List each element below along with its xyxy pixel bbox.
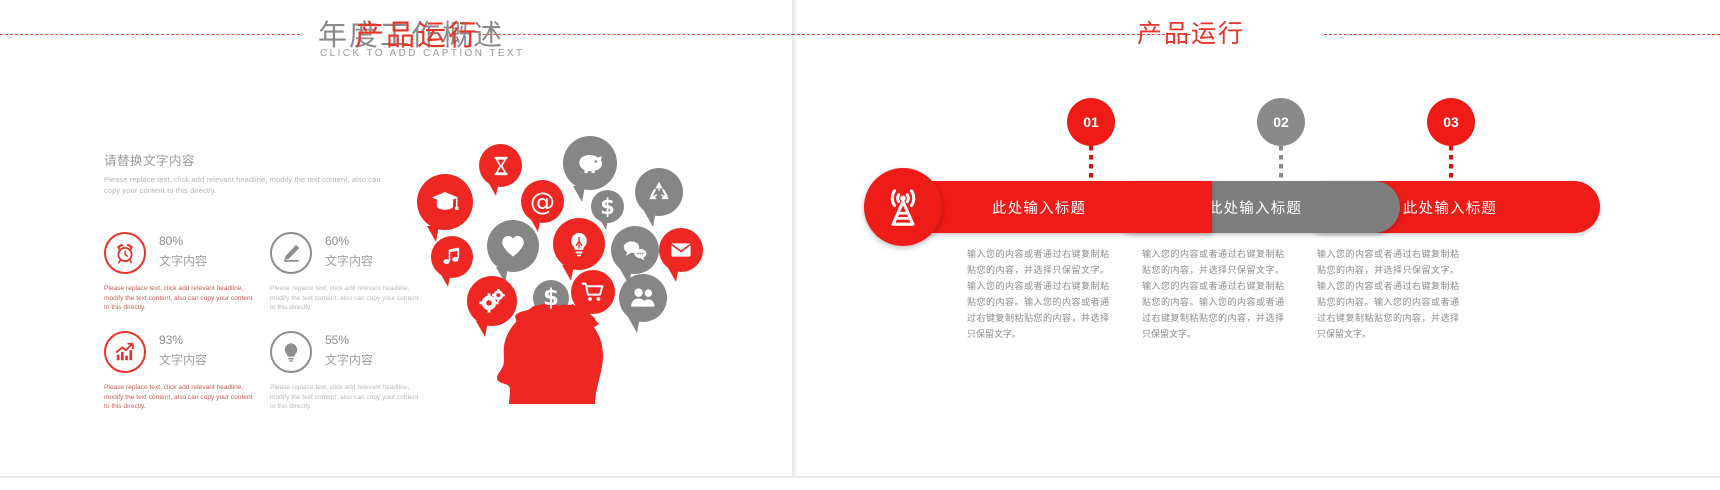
music-note-icon xyxy=(441,246,463,268)
broadcast-tower-icon xyxy=(881,185,925,229)
stat-description: Please replace text, click add relevant … xyxy=(270,284,422,313)
bubble-chat xyxy=(611,226,659,274)
bubble-people xyxy=(619,274,667,322)
bubble-music-note xyxy=(431,236,473,278)
piggy-bank-icon xyxy=(575,148,605,178)
lightbulb-icon xyxy=(280,341,302,363)
header-dash-right xyxy=(478,34,790,35)
alarm-clock-icon xyxy=(114,242,136,264)
slide-divider xyxy=(789,0,792,490)
header-dash-left xyxy=(0,34,300,35)
step-connector-dots xyxy=(1089,146,1093,182)
bubble-at-sign: @ xyxy=(521,180,564,223)
slide-right[interactable]: 产品运行 01 02 03 此处输入标题 此处输入标题 此处输入标题 xyxy=(792,0,1720,490)
lead-description: Please replace text, click add relevant … xyxy=(104,174,384,196)
bubble-envelope xyxy=(659,228,703,272)
step-body-text: 输入您的内容或者通过右键复制粘贴您的内容，并选择只保留文字。输入您的内容或者通过… xyxy=(1142,247,1284,343)
heart-icon xyxy=(499,232,527,260)
stat-description: Please replace text, click add relevant … xyxy=(104,383,256,412)
stat-icon-ring xyxy=(270,331,312,373)
idea-bubble-cloud: @ xyxy=(405,128,705,398)
lead-text-block: 请替换文字内容 Please replace text, click add r… xyxy=(104,150,384,196)
step-number-badge[interactable]: 02 xyxy=(1257,98,1305,146)
chat-bubbles-icon xyxy=(621,236,649,264)
recycle-icon xyxy=(646,179,672,205)
stat-percent: 80% xyxy=(159,234,183,248)
step-body-text: 输入您的内容或者通过右键复制粘贴您的内容，并选择只保留文字。输入您的内容或者通过… xyxy=(967,247,1109,343)
step-number-text: 01 xyxy=(1083,114,1099,130)
lead-title: 请替换文字内容 xyxy=(104,150,384,169)
bubble-hourglass xyxy=(479,144,522,187)
stat-percent: 60% xyxy=(325,234,349,248)
stat-percent: 55% xyxy=(325,333,349,347)
page-title: 产品运行 xyxy=(1137,14,1245,50)
bubble-lightbulb xyxy=(553,218,605,270)
stat-icon-ring xyxy=(270,232,312,274)
dollar-sign-icon: $ xyxy=(543,285,559,311)
people-icon xyxy=(629,284,657,312)
stat-label: 文字内容 xyxy=(325,351,373,368)
right-slide-header: 产品运行 xyxy=(792,0,1720,72)
page-subtitle-caption: CLICK TO ADD CAPTION TEXT xyxy=(320,48,524,59)
bubble-piggy-bank xyxy=(563,136,617,190)
step-body-text: 输入您的内容或者通过右键复制粘贴您的内容，并选择只保留文字。输入您的内容或者通过… xyxy=(1317,247,1459,343)
header-dash-right xyxy=(1324,34,1720,35)
bubble-recycle xyxy=(635,168,683,216)
step-number-text: 02 xyxy=(1273,114,1289,130)
bottom-band xyxy=(0,476,1720,490)
step-number-badge[interactable]: 01 xyxy=(1067,98,1115,146)
lightbulb-idea-icon xyxy=(565,230,593,258)
slide-left[interactable]: 年度工作概述 产品运行 CLICK TO ADD CAPTION TEXT 请替… xyxy=(0,0,790,490)
slide-deck-canvas: 年度工作概述 产品运行 CLICK TO ADD CAPTION TEXT 请替… xyxy=(0,0,1720,490)
bubble-graduation-cap xyxy=(417,174,473,230)
pen-nib-icon xyxy=(280,242,302,264)
dollar-sign-icon: $ xyxy=(600,195,615,219)
left-slide-header: 年度工作概述 产品运行 CLICK TO ADD CAPTION TEXT xyxy=(0,0,790,72)
bubble-heart xyxy=(487,220,539,272)
stat-label: 文字内容 xyxy=(159,252,207,269)
hourglass-icon xyxy=(490,155,512,177)
step-number-badge[interactable]: 03 xyxy=(1427,98,1475,146)
broadcast-cap[interactable] xyxy=(864,168,942,246)
shopping-cart-icon xyxy=(581,280,605,304)
step-title-text: 此处输入标题 xyxy=(992,197,1086,218)
step-number-text: 03 xyxy=(1443,114,1459,130)
stat-percent: 93% xyxy=(159,333,183,347)
header-dash-left xyxy=(792,34,1190,35)
gears-icon xyxy=(478,287,506,315)
stat-icon-ring xyxy=(104,232,146,274)
stat-label: 文字内容 xyxy=(159,351,207,368)
stat-icon-ring xyxy=(104,331,146,373)
step-title-text: 此处输入标题 xyxy=(1208,197,1302,218)
graduation-cap-icon xyxy=(430,187,460,217)
stat-description: Please replace text, click add relevant … xyxy=(270,383,422,412)
envelope-icon xyxy=(669,238,693,262)
step-connector-dots xyxy=(1279,146,1283,182)
head-silhouette-icon xyxy=(475,300,625,405)
stat-description: Please replace text, click add relevant … xyxy=(104,284,256,313)
stat-label: 文字内容 xyxy=(325,252,373,269)
at-sign-icon: @ xyxy=(530,187,555,216)
step-title-text: 此处输入标题 xyxy=(1403,197,1497,218)
bar-chart-growth-icon xyxy=(114,341,136,363)
step-connector-dots xyxy=(1449,146,1453,182)
